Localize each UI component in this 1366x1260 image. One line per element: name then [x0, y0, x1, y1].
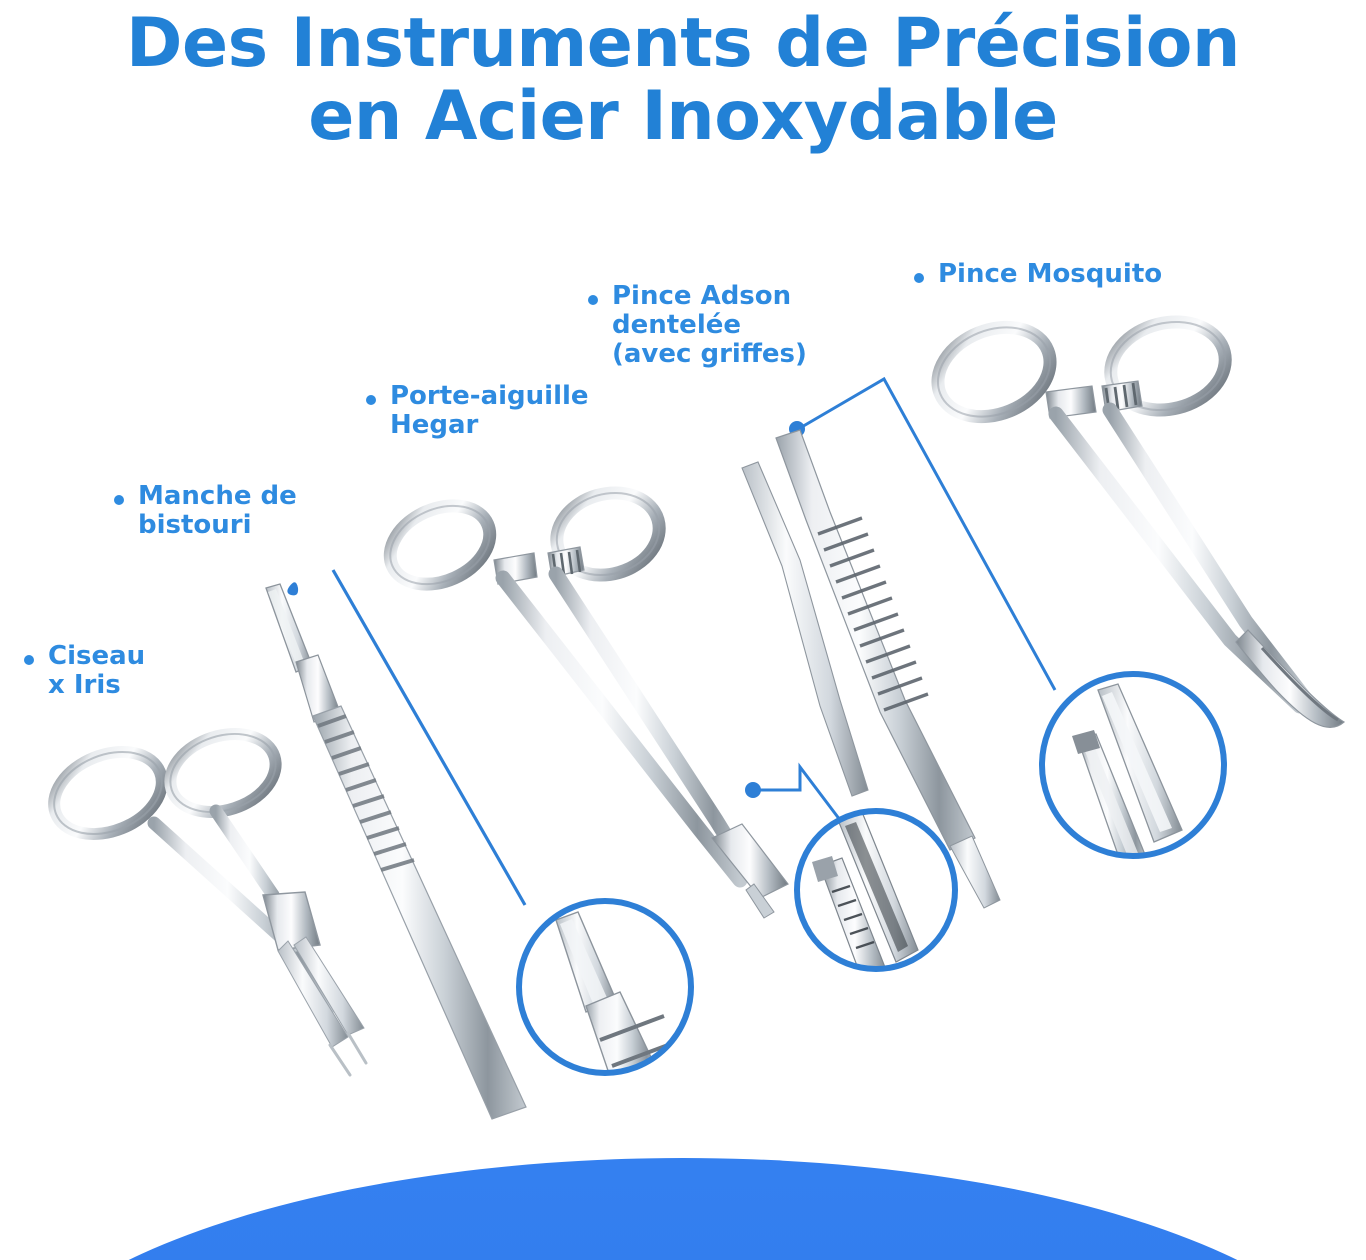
page-title: Des Instruments de Précision en Acier In… — [0, 8, 1366, 154]
label-ciseaux-iris: Ciseau x Iris — [18, 642, 145, 700]
instrument-mosquito-forceps — [924, 310, 1344, 727]
instrument-scalpel-handle — [266, 582, 526, 1119]
callout-adson-tip — [797, 811, 955, 990]
instrument-iris-scissors — [42, 721, 366, 1075]
label-manche-de-bistouri: Manche de bistouri — [108, 482, 297, 540]
label-pince-mosquito: Pince Mosquito — [908, 260, 1162, 289]
connector-adson — [755, 767, 840, 820]
poster-root: Des Instruments de Précision en Acier In… — [0, 0, 1366, 1260]
blue-speck — [287, 582, 298, 595]
callout-scalpel-blade — [519, 901, 691, 1094]
label-porte-aiguille-hegar: Porte-aiguille Hegar — [360, 382, 589, 440]
connector-scalpel — [333, 570, 525, 905]
connector-dot-adson — [745, 782, 761, 798]
footer-arc — [0, 1158, 1366, 1260]
label-pince-adson: Pince Adson dentelée (avec griffes) — [582, 282, 807, 369]
callout-mosquito-tip — [1042, 674, 1224, 872]
instrument-hegar-needle-holder — [378, 481, 788, 918]
instrument-artwork — [0, 0, 1366, 1260]
